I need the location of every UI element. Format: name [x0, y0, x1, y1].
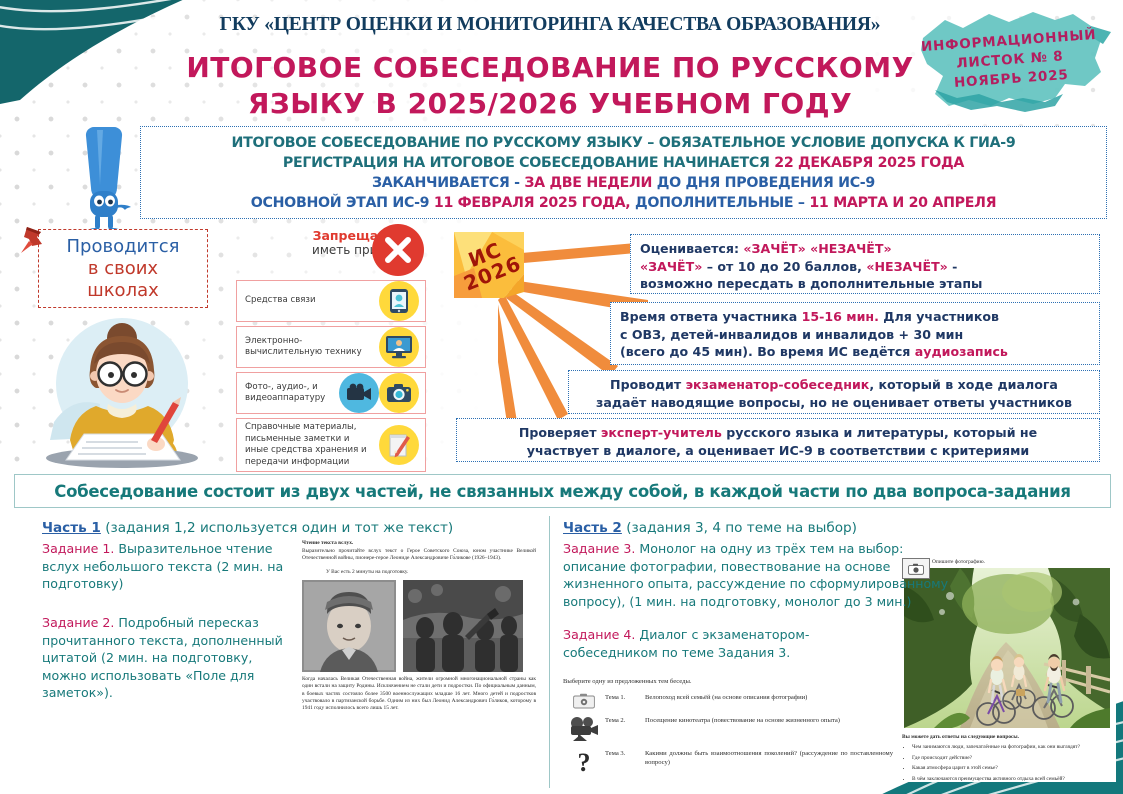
theme-row: Тема 1. Велопоход всей семьёй (на основе… — [563, 693, 893, 709]
smartphone-icon — [379, 281, 419, 321]
reading-document-body: Когда началась Великая Отечественная вой… — [302, 676, 536, 713]
task-4: Задание 4. Диалог с экзаменатором-собесе… — [563, 626, 893, 661]
info-line-4-date-extra: 11 МАРТА И 20 АПРЕЛЯ — [809, 195, 996, 211]
time-text-b: 15-16 мин. — [802, 309, 879, 324]
time-text-e: (всего до 45 мин). Во время ИС ведётся — [620, 344, 915, 359]
theme-text: Посещение кинотеатра (повествование на о… — [645, 716, 893, 725]
prohibited-item: Справочные материалы, письменные заметки… — [236, 418, 426, 472]
prohibited-item: Фото-, аудио-, и видеоаппаратуру — [236, 372, 426, 414]
grading-text-f: - — [948, 259, 958, 274]
structure-banner: Собеседование состоит из двух частей, не… — [14, 474, 1111, 508]
grading-text-e: «НЕЗАЧЁТ» — [866, 259, 947, 274]
task-1: Задание 1. Выразительное чтение вслух не… — [42, 540, 292, 593]
info-line-2-a: РЕГИСТРАЦИЯ НА ИТОГОВОЕ СОБЕСЕДОВАНИЕ НА… — [283, 155, 774, 171]
time-text-d: с ОВЗ, детей-инвалидов и инвалидов + 30 … — [620, 327, 963, 342]
structure-banner-text: Собеседование состоит из двух частей, не… — [54, 482, 1070, 501]
question-mark-icon: ? — [563, 749, 605, 777]
grading-text-b: «ЗАЧЁТ» «НЕЗАЧЁТ» — [743, 241, 891, 256]
themes-list-document: Выберите одну из предложенных тем беседы… — [563, 678, 893, 784]
exclamation-mark-mascot-icon — [74, 125, 134, 235]
info-line-2-date: 22 ДЕКАБРЯ 2025 ГОДА — [774, 155, 964, 171]
key-dates-info-box: ИТОГОВОЕ СОБЕСЕДОВАНИЕ ПО РУССКОМУ ЯЗЫКУ… — [140, 126, 1107, 219]
poster-root: ГКУ «ЦЕНТР ОЦЕНКИ И МОНИТОРИНГА КАЧЕСТВА… — [0, 0, 1123, 794]
reading-document-photos — [302, 580, 536, 672]
time-text-c: Для участников — [879, 309, 999, 324]
expert-text-a: Проверяет — [519, 425, 601, 440]
page-title-line1: ИТОГОВОЕ СОБЕСЕДОВАНИЕ ПО РУССКОМУ — [170, 50, 930, 86]
student-writing-illustration — [24, 312, 220, 468]
grading-text-d: – от 10 до 20 баллов, — [702, 259, 866, 274]
task-4-label: Задание 4. — [563, 627, 635, 642]
reading-task-document: Чтение текста вслух. Выразительно прочит… — [296, 536, 542, 754]
expert-callout-box: Проверяет эксперт-учитель русского языка… — [456, 418, 1100, 462]
theme-text: Велопоход всей семьёй (на основе описани… — [645, 693, 893, 702]
held-at-own-schools-box: Проводится в своих школах — [38, 229, 208, 308]
reading-document-hint: У Вас есть 2 минуты на подготовку. — [326, 569, 536, 575]
grading-callout-box: Оценивается: «ЗАЧЁТ» «НЕЗАЧЁТ» «ЗАЧЁТ» –… — [630, 234, 1100, 294]
time-callout-box: Время ответа участника 15-16 мин. Для уч… — [610, 302, 1100, 365]
prohibited-item-label: Справочные материалы, письменные заметки… — [245, 422, 369, 468]
info-line-2: РЕГИСТРАЦИЯ НА ИТОГОВОЕ СОБЕСЕДОВАНИЕ НА… — [283, 153, 964, 173]
parts-divider — [549, 516, 550, 788]
notepad-pencil-icon — [379, 425, 419, 465]
school-box-line1: Проводится — [67, 236, 180, 258]
theme-number: Тема 3. — [605, 749, 645, 757]
themes-lead-text: Выберите одну из предложенных тем беседы… — [563, 678, 893, 685]
info-line-3-a: ЗАКАНЧИВАЕТСЯ - — [372, 175, 524, 191]
camera-icon — [563, 693, 605, 709]
examiner-callout-box: Проводит экзаменатор-собеседник, который… — [568, 370, 1100, 414]
time-text-a: Время ответа участника — [620, 309, 802, 324]
organization-title: ГКУ «ЦЕНТР ОЦЕНКИ И МОНИТОРИНГА КАЧЕСТВА… — [150, 14, 950, 36]
theme-row: Тема 2. Посещение кинотеатра (повествова… — [563, 716, 893, 742]
photo-question-item: Где происходит действие? — [912, 754, 1112, 762]
film-camera-icon — [563, 716, 605, 742]
school-box-line2: в своих — [88, 258, 158, 280]
examiner-text-c: , который в ходе диалога — [869, 377, 1058, 392]
info-line-4-c: ДОПОЛНИТЕЛЬНЫЕ – — [630, 195, 809, 211]
task-2-label: Задание 2. — [42, 615, 114, 630]
examiner-text-a: Проводит — [610, 377, 686, 392]
grading-text-g: возможно пересдать в дополнительные этап… — [640, 276, 982, 291]
theme-number: Тема 2. — [605, 716, 645, 724]
school-box-line3: школах — [87, 280, 159, 302]
prohibited-item: Средства связи — [236, 280, 426, 322]
prohibited-item-label: Средства связи — [245, 295, 316, 307]
photo-question-item: Чем занимаются люди, запечатлённые на фо… — [912, 743, 1112, 751]
part-2-label: Часть 2 — [563, 520, 622, 536]
task-2: Задание 2. Подробный пересказ прочитанно… — [42, 614, 292, 702]
reading-document-intro: Выразительно прочитайте вслух текст о Ге… — [302, 548, 536, 563]
task-3: Задание 3. Монолог на одну из трёх тем н… — [563, 540, 963, 610]
expert-text-c: русского языка и литературы, который не — [722, 425, 1037, 440]
task-3-label: Задание 3. — [563, 541, 635, 556]
prohibited-items-list: Средства связи Электронно- вычислительну… — [236, 280, 426, 476]
expert-text-b: эксперт-учитель — [601, 425, 722, 440]
portrait-photo-hero — [302, 580, 396, 672]
theme-number: Тема 1. — [605, 693, 645, 701]
part-1-desc: (задания 1,2 используется один и тот же … — [101, 520, 453, 536]
info-line-3-c: ДО ДНЯ ПРОВЕДЕНИЯ ИС-9 — [652, 175, 875, 191]
time-text-f: аудиозапись — [915, 344, 1008, 359]
soldiers-photo — [403, 580, 523, 672]
prohibited-item-label: Электронно- вычислительную технику — [245, 336, 369, 359]
info-line-4: ОСНОВНОЙ ЭТАП ИС-9 11 ФЕВРАЛЯ 2025 ГОДА,… — [251, 193, 997, 213]
info-line-3: ЗАКАНЧИВАЕТСЯ - ЗА ДВЕ НЕДЕЛИ ДО ДНЯ ПРО… — [372, 173, 875, 193]
examiner-text-d: задаёт наводящие вопросы, но не оценивае… — [596, 395, 1072, 410]
is-2026-sticker: ИС 2026 — [452, 230, 526, 300]
reading-document-title: Чтение текста вслух. — [302, 540, 536, 547]
info-line-3-highlight: ЗА ДВЕ НЕДЕЛИ — [524, 175, 652, 191]
photo-questions-list: Чем занимаются люди, запечатлённые на фо… — [912, 743, 1112, 782]
information-sheet-badge: ИНФОРМАЦИОННЫЙ ЛИСТОК № 8 НОЯБРЬ 2025 — [905, 2, 1115, 122]
page-title: ИТОГОВОЕ СОБЕСЕДОВАНИЕ ПО РУССКОМУ ЯЗЫКУ… — [170, 50, 930, 122]
photo-question-item: Какая атмосфера царит в этой семье? — [912, 764, 1112, 772]
part-1-heading: Часть 1 (задания 1,2 используется один и… — [42, 520, 453, 536]
svg-text:?: ? — [578, 749, 591, 777]
info-line-1: ИТОГОВОЕ СОБЕСЕДОВАНИЕ ПО РУССКОМУ ЯЗЫКУ… — [232, 133, 1016, 153]
theme-text: Какими должны быть взаимоотношения покол… — [645, 749, 893, 767]
info-line-4-date-main: 11 ФЕВРАЛЯ 2025 ГОДА, — [434, 195, 631, 211]
part-1-label: Часть 1 — [42, 520, 101, 536]
photo-camera-icon — [379, 373, 419, 413]
grading-text-a: Оценивается: — [640, 241, 743, 256]
prohibited-item: Электронно- вычислительную технику — [236, 326, 426, 368]
computer-icon — [379, 327, 419, 367]
theme-row: ? Тема 3. Какими должны быть взаимоотнош… — [563, 749, 893, 777]
prohibited-title: Запрещается иметь при себе — [236, 228, 376, 258]
grading-text-c: «ЗАЧЁТ» — [640, 259, 702, 274]
part-2-heading: Часть 2 (задания 3, 4 по теме на выбор) — [563, 520, 857, 536]
examiner-text-b: экзаменатор-собеседник — [686, 377, 870, 392]
info-line-4-a: ОСНОВНОЙ ЭТАП ИС-9 — [251, 195, 434, 211]
photo-question-item: В чём заключаются преимущества активного… — [912, 775, 1112, 783]
photo-questions-heading: Вы можете дать ответы на следующие вопро… — [902, 734, 1112, 740]
part-2-desc: (задания 3, 4 по теме на выбор) — [622, 520, 857, 536]
video-camera-icon — [339, 373, 379, 413]
page-title-line2: ЯЗЫКУ В 2025/2026 УЧЕБНОМ ГОДУ — [170, 86, 930, 122]
prohibited-title-red: Запрещается — [236, 228, 486, 243]
prohibition-cross-icon — [372, 224, 424, 276]
task-1-label: Задание 1. — [42, 541, 114, 556]
push-pin-icon — [16, 222, 56, 262]
expert-text-d: участвует в диалоге, а оценивает ИС-9 в … — [527, 443, 1029, 458]
